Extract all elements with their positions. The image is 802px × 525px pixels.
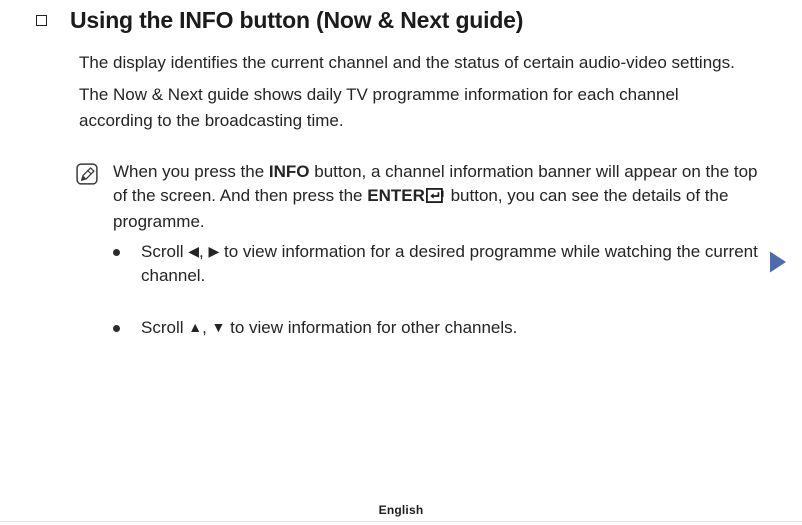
list-item-text: Scroll ◀, ▶ to view information for a de…: [141, 240, 763, 288]
triangle-up-icon: ▲: [188, 320, 202, 334]
triangle-left-icon: ◀: [188, 244, 199, 258]
list-item-text-before: Scroll: [141, 318, 188, 337]
list-item: Scroll ◀, ▶ to view information for a de…: [113, 240, 763, 288]
round-dot-bullet-icon: [113, 249, 120, 256]
footer-divider: [0, 521, 802, 522]
enter-return-key-icon: [426, 186, 445, 210]
list-item-text-before: Scroll: [141, 242, 188, 261]
note-callout: When you press the INFO button, a channe…: [76, 160, 766, 234]
enter-button-label: ENTER: [367, 186, 425, 205]
round-dot-bullet-icon: [113, 325, 120, 332]
triangle-right-icon: ▶: [208, 244, 219, 258]
list-item: Scroll ▲, ▼ to view information for othe…: [113, 316, 763, 340]
list-item-text-after: to view information for a desired progra…: [141, 242, 758, 285]
list-item-separator: ,: [199, 242, 208, 261]
list-item-text: Scroll ▲, ▼ to view information for othe…: [141, 316, 763, 340]
page-footer: English: [0, 501, 802, 519]
document-page: Using the INFO button (Now & Next guide)…: [0, 0, 802, 525]
scroll-instruction-list: Scroll ◀, ▶ to view information for a de…: [113, 240, 763, 340]
next-page-button[interactable]: [768, 250, 788, 274]
list-item-separator: ,: [202, 318, 211, 337]
paragraph-1: The display identifies the current chann…: [79, 50, 755, 76]
note-text-part-1: When you press the: [113, 162, 269, 181]
outlined-square-bullet-icon: [36, 15, 51, 30]
list-item-text-after: to view information for other channels.: [225, 318, 517, 337]
note-text: When you press the INFO button, a channe…: [113, 160, 766, 234]
section-heading: Using the INFO button (Now & Next guide): [36, 6, 762, 34]
triangle-down-icon: ▼: [212, 320, 226, 334]
note-pencil-icon: [76, 163, 98, 185]
page-title: Using the INFO button (Now & Next guide): [70, 6, 523, 34]
info-button-label: INFO: [269, 162, 310, 181]
paragraph-2: The Now & Next guide shows daily TV prog…: [79, 82, 755, 134]
footer-language-label: English: [379, 503, 424, 517]
intro-paragraphs: The display identifies the current chann…: [79, 50, 755, 134]
